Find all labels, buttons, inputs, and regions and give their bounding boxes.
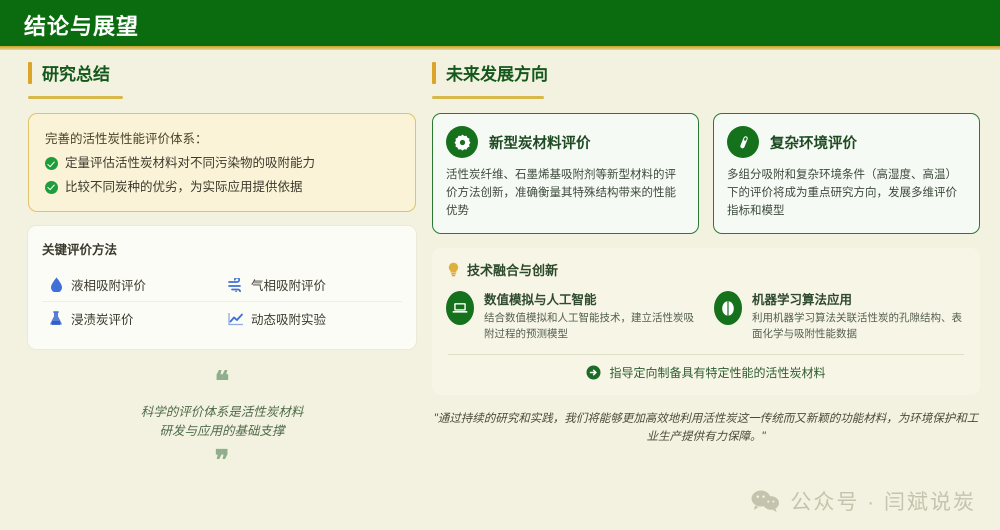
arrow-right-circle-icon <box>586 365 601 380</box>
fusion-item-text: 数值模拟与人工智能 结合数值模拟和人工智能技术，建立活性炭吸附过程的预测模型 <box>484 289 698 343</box>
method-item-dynamic-adsorption[interactable]: 动态吸附实验 <box>222 302 402 335</box>
right-section-heading: 未来发展方向 <box>432 60 980 90</box>
fusion-item-simulation-ai[interactable]: 数值模拟与人工智能 结合数值模拟和人工智能技术，建立活性炭吸附过程的预测模型 <box>446 289 698 343</box>
fusion-item-text: 机器学习算法应用 利用机器学习算法关联活性炭的孔隙结构、表面化学与吸附性能数据 <box>752 289 966 343</box>
direction-card-title: 复杂环境评价 <box>770 132 857 153</box>
watermark-text: 公众号 · 闫斌说炭 <box>790 486 976 516</box>
test-tube-icon <box>727 126 759 158</box>
left-quote-block: ❝ 科学的评价体系是活性炭材料 研发与应用的基础支撑 ❞ <box>28 371 416 471</box>
key-methods-grid: 液相吸附评价 气相吸附评价 <box>42 268 402 335</box>
wechat-icon <box>750 489 780 513</box>
summary-bullet-text: 比较不同炭种的优劣，为实际应用提供依据 <box>65 180 303 196</box>
fusion-item-desc: 利用机器学习算法关联活性炭的孔隙结构、表面化学与吸附性能数据 <box>752 311 966 343</box>
fusion-title: 技术融合与创新 <box>467 260 558 279</box>
fusion-footer-text: 指导定向制备具有特定性能的活性炭材料 <box>609 364 825 381</box>
method-item-liquid-phase[interactable]: 液相吸附评价 <box>42 268 222 302</box>
direction-card-header: 复杂环境评价 <box>727 126 966 158</box>
fusion-item-title: 机器学习算法应用 <box>752 289 966 308</box>
slide-root: 结论与展望 研究总结 完善的活性炭性能评价体系： 定量评估活性炭材料对不同污染物… <box>0 0 1000 530</box>
direction-card-complex-environment[interactable]: 复杂环境评价 多组分吸附和复杂环境条件（高湿度、高温）下的评价将成为重点研究方向… <box>713 113 980 234</box>
check-circle-icon <box>45 181 58 194</box>
method-label: 动态吸附实验 <box>251 309 326 328</box>
water-drop-icon <box>48 277 64 293</box>
line-chart-icon <box>228 311 244 327</box>
wechat-watermark: 公众号 · 闫斌说炭 <box>750 486 976 516</box>
brain-icon <box>714 291 742 325</box>
left-section-heading: 研究总结 <box>28 60 418 90</box>
future-direction-cards: 新型炭材料评价 活性炭纤维、石墨烯基吸附剂等新型材料的评价方法创新，准确衡量其特… <box>432 113 980 234</box>
right-section-title: 未来发展方向 <box>446 60 548 85</box>
summary-intro-text: 完善的活性炭性能评价体系： <box>45 128 399 147</box>
right-column: 未来发展方向 新型炭材料评价 活性炭纤维、石墨烯基吸附剂等新型材料的评价方法创新… <box>432 60 980 447</box>
page-title: 结论与展望 <box>24 9 139 41</box>
laptop-icon <box>446 291 474 325</box>
quote-close-mark: ❞ <box>28 450 416 472</box>
key-methods-title: 关键评价方法 <box>42 239 402 258</box>
quote-line-1: 科学的评价体系是活性炭材料 <box>28 403 416 422</box>
right-heading-underline <box>432 96 544 99</box>
method-label: 浸渍炭评价 <box>71 309 134 328</box>
direction-card-body: 活性炭纤维、石墨烯基吸附剂等新型材料的评价方法创新，准确衡量其特殊结构带来的性能… <box>446 167 685 220</box>
heading-accent-bar <box>432 62 436 84</box>
header-gold-rule <box>0 46 1000 50</box>
fusion-item-title: 数值模拟与人工智能 <box>484 289 698 308</box>
summary-bullet: 比较不同炭种的优劣，为实际应用提供依据 <box>45 180 399 196</box>
check-circle-icon <box>45 157 58 170</box>
wind-icon <box>228 277 244 293</box>
fusion-header: 技术融合与创新 <box>446 260 966 279</box>
left-column: 研究总结 完善的活性炭性能评价体系： 定量评估活性炭材料对不同污染物的吸附能力 … <box>28 60 418 471</box>
summary-bullet-text: 定量评估活性炭材料对不同污染物的吸附能力 <box>65 156 315 172</box>
direction-card-header: 新型炭材料评价 <box>446 126 685 158</box>
lightbulb-icon <box>446 262 460 278</box>
direction-card-body: 多组分吸附和复杂环境条件（高湿度、高温）下的评价将成为重点研究方向，发展多维评价… <box>727 167 966 220</box>
left-section-title: 研究总结 <box>42 60 110 85</box>
slide-header: 结论与展望 <box>0 0 1000 46</box>
direction-card-title: 新型炭材料评价 <box>489 132 591 153</box>
left-quote-text: 科学的评价体系是活性炭材料 研发与应用的基础支撑 <box>28 403 416 442</box>
method-label: 液相吸附评价 <box>71 275 146 294</box>
closing-quote: "通过持续的研究和实践，我们将能够更加高效地利用活性炭这一传统而又新颖的功能材料… <box>432 410 980 447</box>
method-label: 气相吸附评价 <box>251 275 326 294</box>
quote-line-2: 研发与应用的基础支撑 <box>28 422 416 441</box>
flask-icon <box>48 311 64 327</box>
fusion-footer[interactable]: 指导定向制备具有特定性能的活性炭材料 <box>446 355 966 385</box>
summary-bullet: 定量评估活性炭材料对不同污染物的吸附能力 <box>45 156 399 172</box>
key-methods-card: 关键评价方法 液相吸附评价 气相 <box>28 226 416 349</box>
method-item-impregnated-carbon[interactable]: 浸渍炭评价 <box>42 302 222 335</box>
heading-accent-bar <box>28 62 32 84</box>
fusion-items: 数值模拟与人工智能 结合数值模拟和人工智能技术，建立活性炭吸附过程的预测模型 机… <box>446 289 966 343</box>
method-item-gas-phase[interactable]: 气相吸附评价 <box>222 268 402 302</box>
quote-open-mark: ❝ <box>28 371 416 393</box>
left-heading-underline <box>28 96 123 99</box>
direction-card-new-materials[interactable]: 新型炭材料评价 活性炭纤维、石墨烯基吸附剂等新型材料的评价方法创新，准确衡量其特… <box>432 113 699 234</box>
technology-fusion-panel: 技术融合与创新 数值模拟与人工智能 结合数值模拟和人工智能技术，建立活性炭吸附过… <box>432 248 980 395</box>
fusion-item-machine-learning[interactable]: 机器学习算法应用 利用机器学习算法关联活性炭的孔隙结构、表面化学与吸附性能数据 <box>714 289 966 343</box>
gear-icon <box>446 126 478 158</box>
fusion-item-desc: 结合数值模拟和人工智能技术，建立活性炭吸附过程的预测模型 <box>484 311 698 343</box>
research-summary-card: 完善的活性炭性能评价体系： 定量评估活性炭材料对不同污染物的吸附能力 比较不同炭… <box>28 113 416 212</box>
